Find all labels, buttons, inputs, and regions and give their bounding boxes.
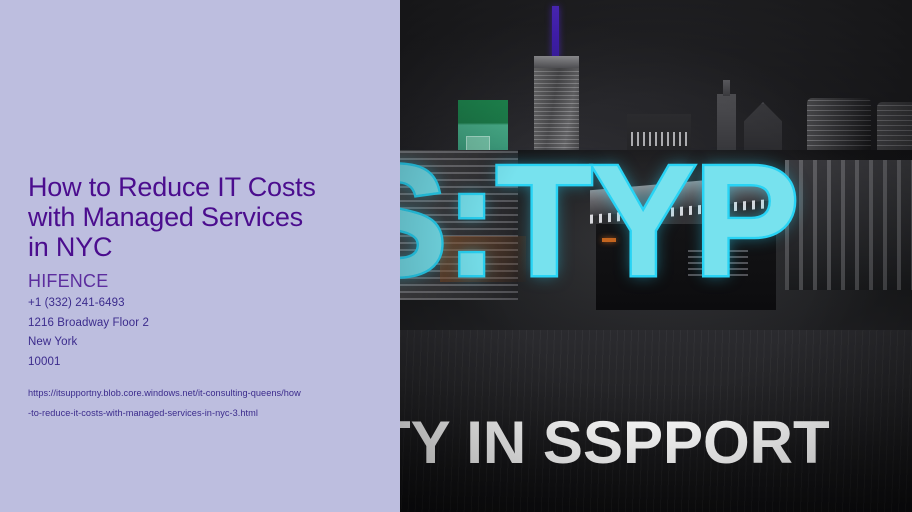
- blue-spire-icon: [552, 6, 559, 58]
- brand-name: HIFENCE: [28, 270, 394, 292]
- contact-phone[interactable]: +1 (332) 241-6493: [28, 294, 394, 314]
- article-info-panel: How to Reduce IT Costs with Managed Serv…: [0, 0, 400, 512]
- source-url-line-2: -to-reduce-it-costs-with-managed-service…: [28, 403, 394, 423]
- source-url-line-1: https://itsupportny.blob.core.windows.ne…: [28, 383, 394, 403]
- hero-image: S:TYP S:TYP TY IN SSPPORT: [400, 0, 912, 512]
- contact-zip: 10001: [28, 353, 394, 373]
- contact-city: New York: [28, 333, 394, 353]
- article-info-content: How to Reduce IT Costs with Managed Serv…: [28, 172, 394, 423]
- page-title: How to Reduce IT Costs with Managed Serv…: [28, 172, 394, 262]
- headline-cyan-fill: S:TYP: [400, 142, 912, 300]
- contact-street: 1216 Broadway Floor 2: [28, 314, 394, 334]
- og-image-preview: How to Reduce IT Costs with Managed Serv…: [0, 0, 912, 512]
- source-url[interactable]: https://itsupportny.blob.core.windows.ne…: [28, 383, 394, 423]
- subheadline-white: TY IN SSPPORT: [400, 412, 830, 474]
